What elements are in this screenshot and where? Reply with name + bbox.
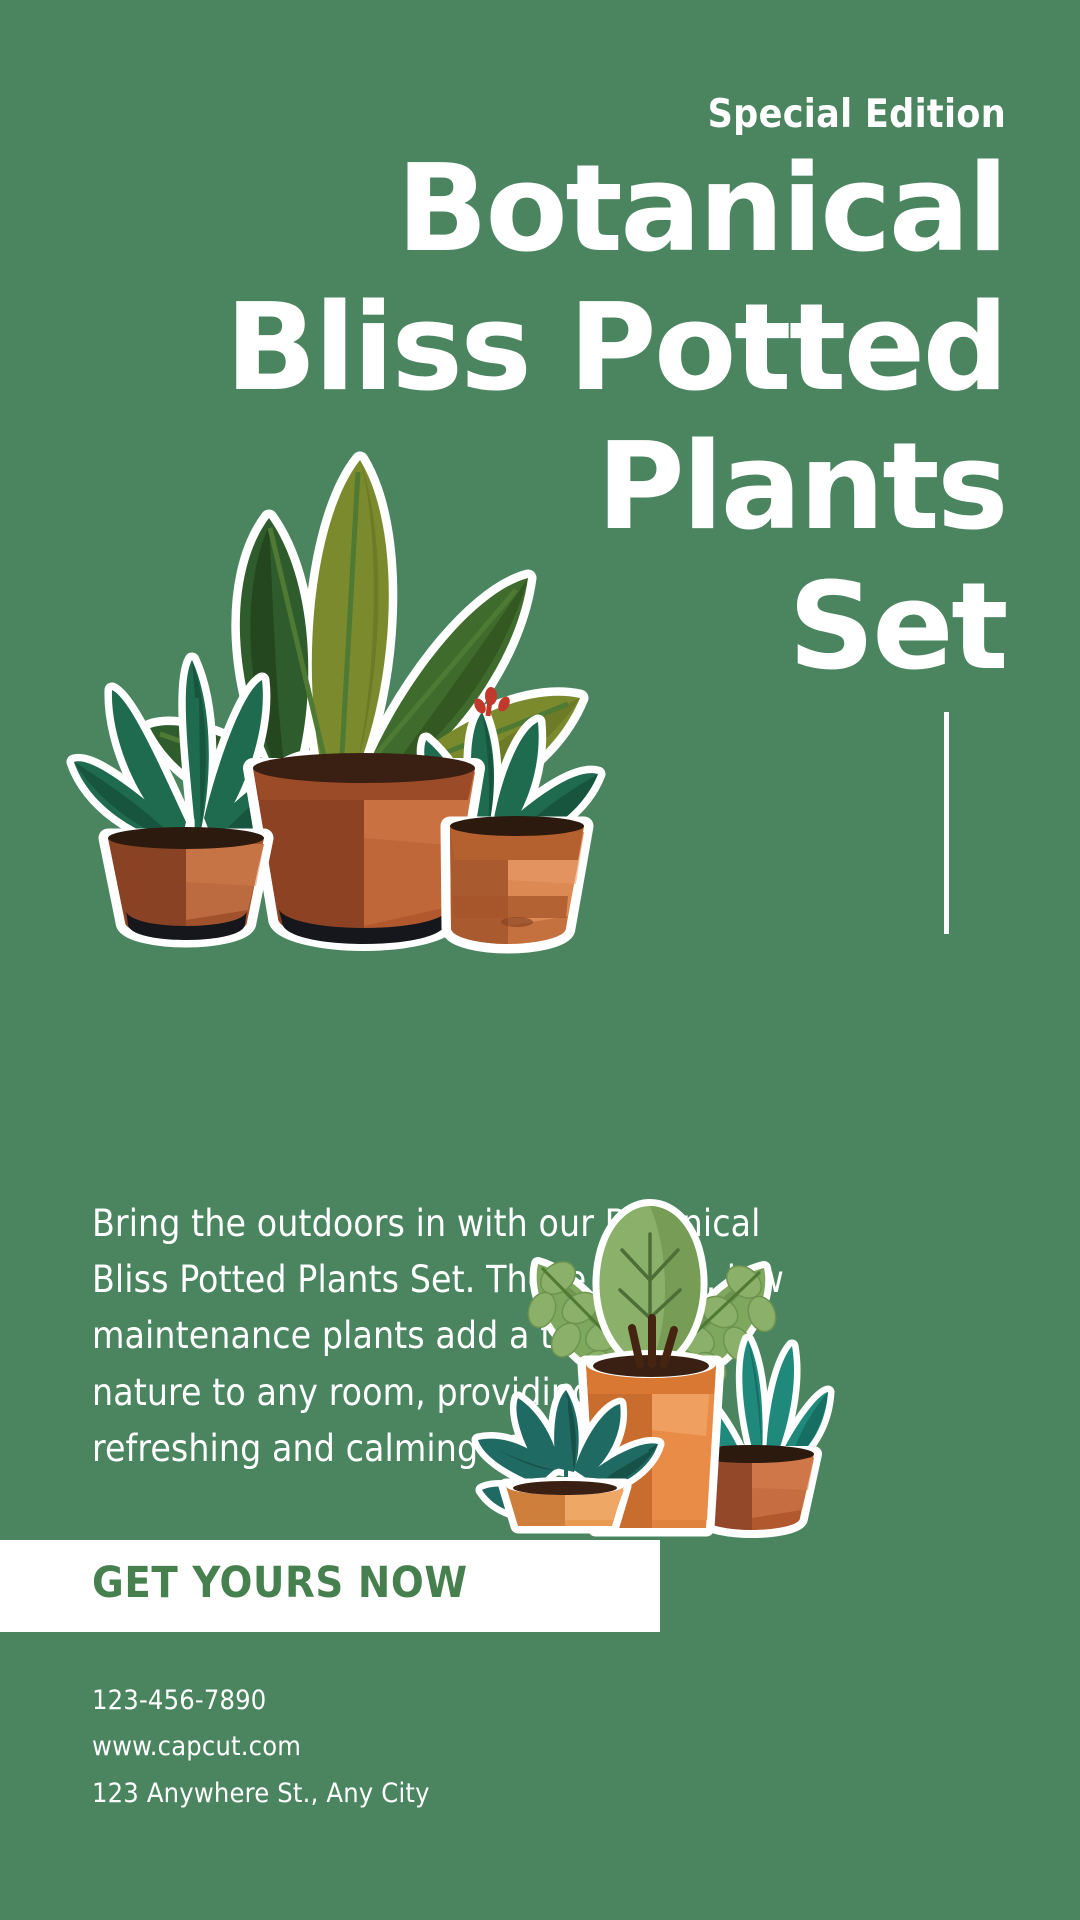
vertical-divider-line bbox=[944, 712, 949, 934]
left-small-pot bbox=[108, 827, 264, 940]
cta-button-label[interactable]: GET YOURS NOW bbox=[92, 1558, 468, 1608]
left-small-pot-bottom bbox=[506, 1477, 624, 1526]
footer-address: 123 Anywhere St., Any City bbox=[92, 1771, 430, 1817]
eyebrow-label: Special Edition bbox=[708, 92, 1006, 137]
title-line-1: Botanical bbox=[0, 140, 1006, 279]
footer-phone[interactable]: 123-456-7890 bbox=[92, 1678, 430, 1724]
right-small-pot bbox=[450, 816, 584, 944]
footer-website[interactable]: www.capcut.com bbox=[92, 1724, 430, 1770]
three-potted-plants-illustration bbox=[64, 398, 664, 958]
potted-plants-cluster-illustration bbox=[462, 1168, 822, 1528]
footer-contact: 123-456-7890 www.capcut.com 123 Anywhere… bbox=[92, 1678, 430, 1817]
poster-canvas: Special Edition Botanical Bliss Potted P… bbox=[0, 0, 1080, 1920]
